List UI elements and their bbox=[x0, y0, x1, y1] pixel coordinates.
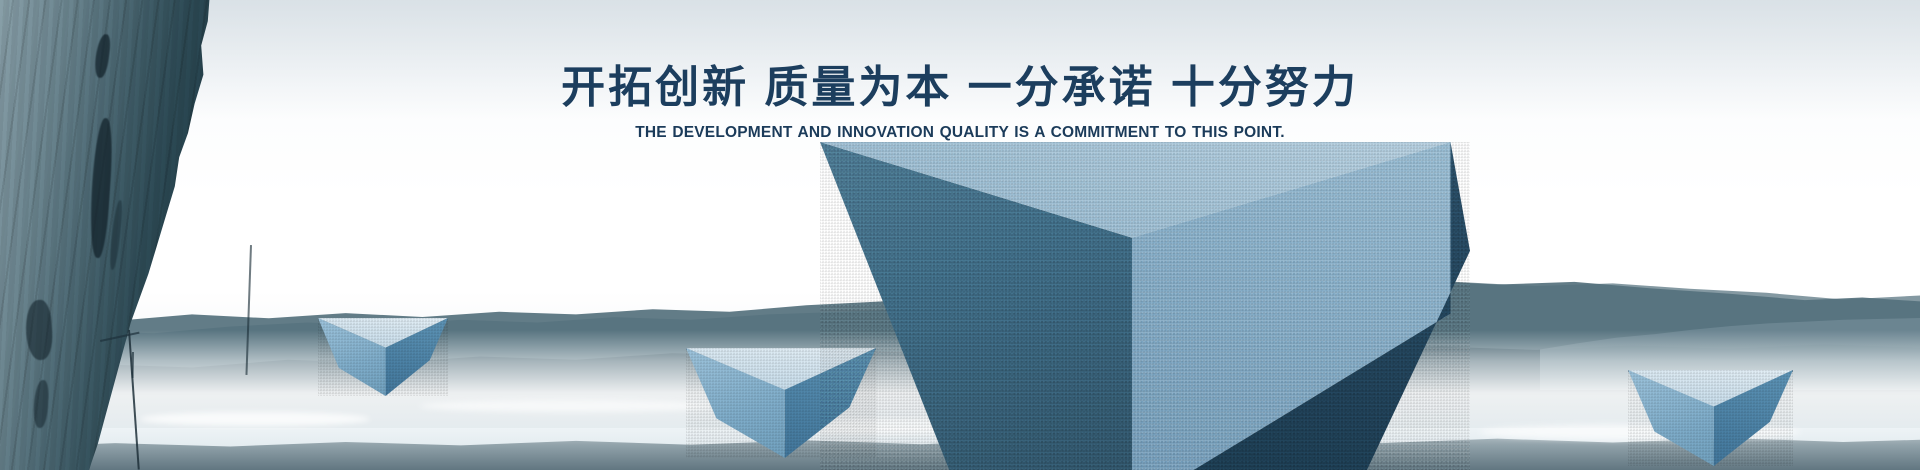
small-inverted-pyramid-left bbox=[318, 318, 448, 396]
small-inverted-pyramid-right bbox=[1628, 370, 1793, 466]
sky-haze bbox=[0, 0, 1920, 120]
hero-banner: 开拓创新 质量为本 一分承诺 十分努力 THE DEVELOPMENT AND … bbox=[0, 0, 1920, 470]
large-inverted-pyramid bbox=[820, 142, 1470, 470]
wave-crest bbox=[420, 400, 720, 412]
rock-cliff bbox=[0, 0, 210, 470]
